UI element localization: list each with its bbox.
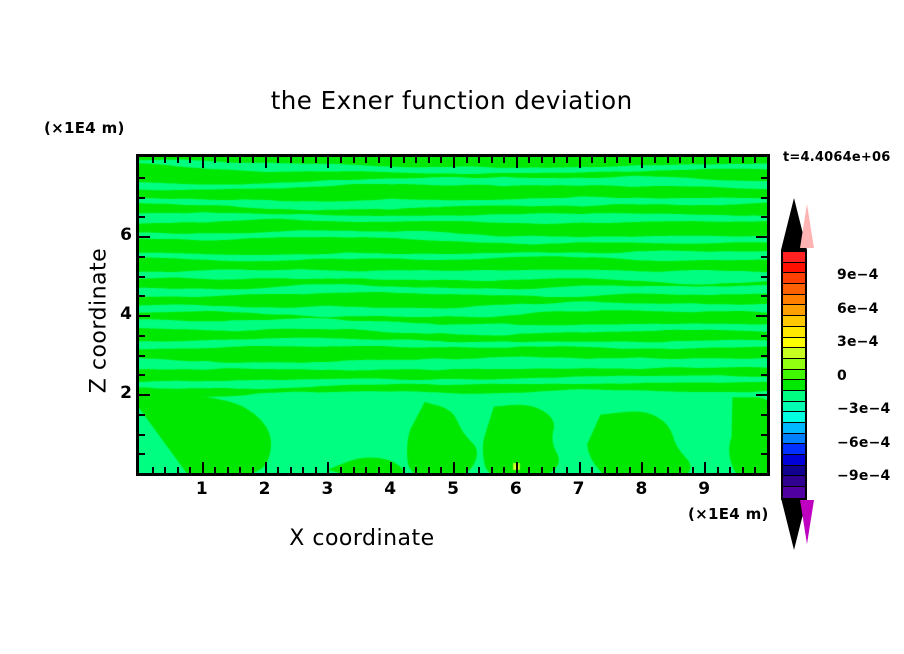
tick-mark	[629, 157, 631, 163]
tick-mark	[541, 467, 543, 473]
tick-mark	[327, 462, 329, 473]
tick-mark	[761, 197, 767, 199]
tick-mark	[679, 157, 681, 163]
x-axis-unit-label: (×1E4 m)	[688, 505, 769, 523]
tick-mark	[227, 157, 229, 163]
tick-mark	[327, 157, 329, 168]
tick-mark	[239, 157, 241, 163]
tick-mark	[729, 157, 731, 163]
x-tick-label: 5	[438, 479, 468, 499]
timestamp-annotation: t=4.4064e+06	[783, 150, 890, 165]
tick-mark	[214, 157, 216, 163]
tick-mark	[667, 157, 669, 163]
tick-mark	[139, 256, 145, 258]
tick-mark	[591, 157, 593, 163]
colorbar-under-arrow	[781, 498, 807, 550]
tick-mark	[566, 467, 568, 473]
tick-mark	[164, 467, 166, 473]
tick-mark	[302, 157, 304, 163]
tick-mark	[415, 467, 417, 473]
tick-mark	[139, 315, 150, 317]
tick-mark	[629, 467, 631, 473]
tick-mark	[453, 462, 455, 473]
y-tick-label: 2	[102, 383, 132, 403]
tick-mark	[277, 157, 279, 163]
tick-mark	[428, 157, 430, 163]
tick-mark	[428, 467, 430, 473]
tick-mark	[302, 467, 304, 473]
contour-field	[139, 157, 767, 473]
tick-mark	[265, 157, 267, 168]
tick-mark	[290, 157, 292, 163]
x-tick-label: 6	[501, 479, 531, 499]
tick-mark	[761, 177, 767, 179]
x-axis-title: X coordinate	[0, 526, 724, 551]
tick-mark	[704, 462, 706, 473]
colorbar-band	[783, 359, 805, 370]
tick-mark	[189, 157, 191, 163]
tick-mark	[654, 157, 656, 163]
colorbar-band	[783, 455, 805, 466]
tick-mark	[139, 453, 145, 455]
tick-mark	[553, 467, 555, 473]
colorbar-ticklabels: 9e−46e−43e−40−3e−4−6e−4−9e−4	[809, 250, 899, 500]
tick-mark	[340, 157, 342, 163]
figure-canvas: the Exner function deviation (×1E4 m) (×…	[0, 0, 904, 654]
tick-mark	[139, 335, 145, 337]
colorbar-tick-label: −6e−4	[837, 435, 890, 451]
tick-mark	[202, 157, 204, 168]
tick-mark	[139, 434, 145, 436]
tick-mark	[641, 157, 643, 168]
colorbar-over-arrow	[781, 198, 807, 250]
tick-mark	[553, 157, 555, 163]
tick-mark	[679, 467, 681, 473]
tick-mark	[761, 453, 767, 455]
y-axis-unit-label: (×1E4 m)	[44, 119, 125, 137]
colorbar-band	[783, 466, 805, 477]
tick-mark	[378, 157, 380, 163]
tick-mark	[528, 157, 530, 163]
tick-mark	[478, 467, 480, 473]
tick-mark	[761, 374, 767, 376]
tick-mark	[616, 467, 618, 473]
colorbar-tick-label: 6e−4	[837, 301, 879, 317]
colorbar-band	[783, 263, 805, 274]
tick-mark	[164, 157, 166, 163]
x-tick-label: 8	[626, 479, 656, 499]
tick-mark	[214, 467, 216, 473]
colorbar-band	[783, 252, 805, 263]
tick-mark	[767, 462, 769, 473]
tick-mark	[277, 467, 279, 473]
tick-mark	[692, 467, 694, 473]
tick-mark	[466, 157, 468, 163]
tick-mark	[290, 467, 292, 473]
tick-mark	[754, 467, 756, 473]
tick-mark	[139, 197, 145, 199]
tick-mark	[227, 467, 229, 473]
colorbar-tick-label: −3e−4	[837, 401, 890, 417]
tick-mark	[704, 157, 706, 168]
tick-mark	[761, 355, 767, 357]
colorbar-band	[783, 487, 805, 498]
colorbar-band	[783, 327, 805, 338]
tick-mark	[742, 467, 744, 473]
colorbar-band	[783, 284, 805, 295]
tick-mark	[654, 467, 656, 473]
tick-mark	[761, 295, 767, 297]
tick-mark	[761, 335, 767, 337]
tick-mark	[761, 276, 767, 278]
x-tick-label: 7	[564, 479, 594, 499]
colorbar-band	[783, 434, 805, 445]
tick-mark	[516, 157, 518, 168]
tick-mark	[403, 467, 405, 473]
tick-mark	[177, 467, 179, 473]
tick-mark	[365, 467, 367, 473]
colorbar-band	[783, 444, 805, 455]
colorbar-band	[783, 380, 805, 391]
tick-mark	[717, 157, 719, 163]
tick-mark	[139, 276, 145, 278]
tick-mark	[528, 467, 530, 473]
x-tick-label: 3	[312, 479, 342, 499]
colorbar-tick-label: 3e−4	[837, 334, 879, 350]
tick-mark	[616, 157, 618, 163]
tick-mark	[566, 157, 568, 163]
tick-mark	[667, 467, 669, 473]
colorbar-band	[783, 391, 805, 402]
colorbar-tick-label: 0	[837, 368, 847, 384]
tick-mark	[340, 467, 342, 473]
tick-mark	[717, 467, 719, 473]
tick-mark	[761, 256, 767, 258]
colorbar-band	[783, 338, 805, 349]
tick-mark	[579, 157, 581, 168]
tick-mark	[139, 355, 145, 357]
tick-mark	[139, 177, 145, 179]
tick-mark	[466, 467, 468, 473]
tick-mark	[139, 236, 150, 238]
tick-mark	[139, 374, 145, 376]
tick-mark	[315, 467, 317, 473]
contour-plot-area	[136, 154, 770, 476]
x-tick-label: 4	[375, 479, 405, 499]
tick-mark	[177, 157, 179, 163]
colorbar-band	[783, 316, 805, 327]
tick-mark	[353, 157, 355, 163]
tick-mark	[491, 467, 493, 473]
tick-mark	[541, 157, 543, 163]
colorbar-band	[783, 412, 805, 423]
colorbar-band	[783, 476, 805, 487]
colorbar-tick-label: 9e−4	[837, 267, 879, 283]
tick-mark	[761, 414, 767, 416]
tick-mark	[516, 462, 518, 473]
y-tick-label: 6	[102, 225, 132, 245]
tick-mark	[478, 157, 480, 163]
tick-mark	[152, 157, 154, 163]
tick-mark	[761, 434, 767, 436]
tick-mark	[315, 157, 317, 163]
tick-mark	[756, 236, 767, 238]
tick-mark	[742, 157, 744, 163]
colorbar-band	[783, 348, 805, 359]
tick-mark	[152, 467, 154, 473]
x-tick-label: 2	[250, 479, 280, 499]
tick-mark	[692, 157, 694, 163]
tick-mark	[761, 216, 767, 218]
tick-mark	[503, 157, 505, 163]
colorbar-tick-label: −9e−4	[837, 468, 890, 484]
colorbar-bands	[781, 250, 807, 500]
tick-mark	[579, 462, 581, 473]
colorbar-band	[783, 305, 805, 316]
tick-mark	[189, 467, 191, 473]
colorbar-band	[783, 370, 805, 381]
tick-mark	[767, 157, 769, 168]
tick-mark	[390, 462, 392, 473]
tick-mark	[403, 157, 405, 163]
colorbar-band	[783, 402, 805, 413]
tick-mark	[591, 467, 593, 473]
tick-mark	[729, 467, 731, 473]
tick-mark	[139, 216, 145, 218]
tick-mark	[604, 467, 606, 473]
chart-title: the Exner function deviation	[0, 86, 904, 115]
tick-mark	[453, 157, 455, 168]
tick-mark	[353, 467, 355, 473]
tick-mark	[139, 295, 145, 297]
tick-mark	[440, 157, 442, 163]
tick-mark	[265, 462, 267, 473]
tick-mark	[239, 467, 241, 473]
colorbar-band	[783, 423, 805, 434]
x-tick-label: 1	[187, 479, 217, 499]
tick-mark	[503, 467, 505, 473]
colorbar-band	[783, 295, 805, 306]
tick-mark	[252, 467, 254, 473]
colorbar-band	[783, 273, 805, 284]
tick-mark	[604, 157, 606, 163]
tick-mark	[641, 462, 643, 473]
tick-mark	[440, 467, 442, 473]
tick-mark	[754, 157, 756, 163]
tick-mark	[252, 157, 254, 163]
tick-mark	[415, 157, 417, 163]
tick-mark	[202, 462, 204, 473]
tick-mark	[365, 157, 367, 163]
tick-mark	[756, 315, 767, 317]
tick-mark	[378, 467, 380, 473]
tick-mark	[756, 394, 767, 396]
y-tick-label: 4	[102, 304, 132, 324]
x-tick-label: 9	[689, 479, 719, 499]
tick-mark	[139, 414, 145, 416]
tick-mark	[139, 394, 150, 396]
tick-mark	[491, 157, 493, 163]
tick-mark	[390, 157, 392, 168]
